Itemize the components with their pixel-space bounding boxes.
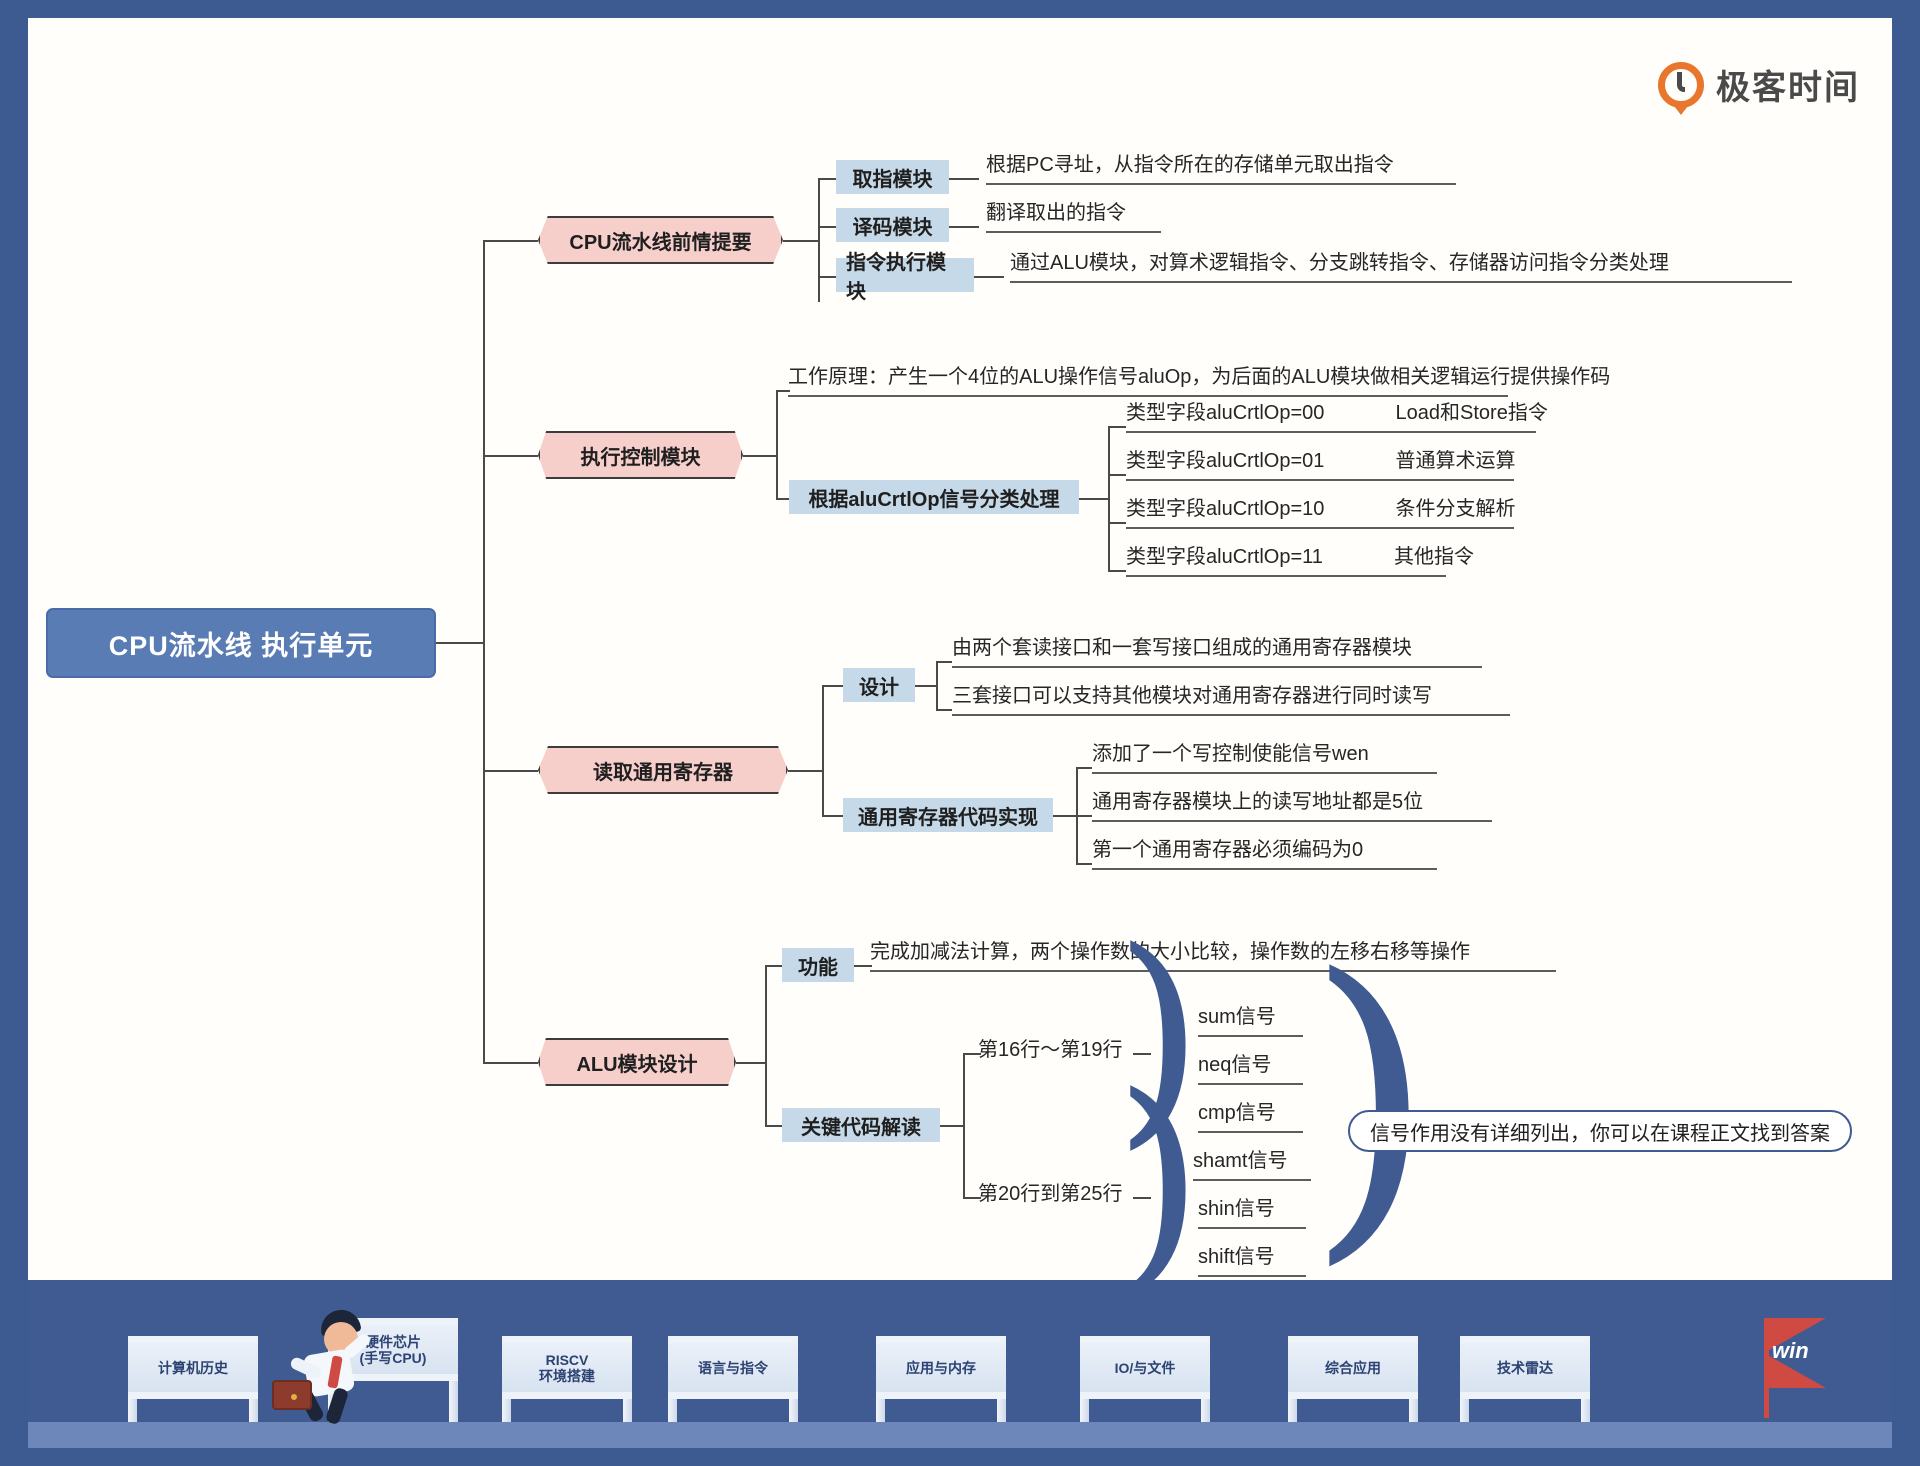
b4-code-groups-spine bbox=[963, 1053, 965, 1197]
b1-c2-desc-link bbox=[949, 226, 979, 228]
b1-c1-link bbox=[818, 178, 838, 180]
table-row: 类型字段aluCrtlOp=01 普通算术运算 bbox=[1126, 447, 1514, 481]
hurdle-label: RISCV 环境搭建 bbox=[502, 1343, 632, 1392]
branch-label: 读取通用寄存器 bbox=[593, 756, 733, 785]
b2-rows-link bbox=[1079, 498, 1109, 500]
leaf-signal: neq信号 bbox=[1198, 1051, 1303, 1085]
sub-label: 设计 bbox=[859, 671, 899, 700]
finish-label: win bbox=[1772, 1338, 1809, 1364]
mindmap-canvas: 极客时间 CPU流水线 执行单元 CPU流水线前情提要 取指模块 根据PC寻址，… bbox=[28, 18, 1892, 1448]
branch-label: 执行控制模块 bbox=[581, 441, 701, 470]
branch-execute-control-module[interactable]: 执行控制模块 bbox=[538, 431, 743, 479]
brand-name: 极客时间 bbox=[1716, 60, 1860, 109]
sub-fetch-module[interactable]: 取指模块 bbox=[836, 160, 949, 194]
sub-key-code-reading[interactable]: 关键代码解读 bbox=[782, 1108, 940, 1142]
b2-rows-spine bbox=[1108, 426, 1110, 570]
b3-g1-items-link bbox=[915, 685, 937, 687]
row-key: 类型字段aluCrtlOp=11 bbox=[1126, 546, 1323, 568]
running-businessman-icon bbox=[268, 1304, 388, 1424]
row-key: 类型字段aluCrtlOp=01 bbox=[1126, 450, 1324, 472]
root-node-label: CPU流水线 执行单元 bbox=[109, 624, 374, 663]
list-item[interactable]: 计算机历史 bbox=[128, 1336, 258, 1422]
b3-g2-i2-link bbox=[1076, 815, 1092, 817]
sub-label: 取指模块 bbox=[853, 163, 933, 192]
hurdle-label: IO/与文件 bbox=[1080, 1343, 1210, 1392]
b2-spine bbox=[776, 390, 778, 498]
list-item[interactable]: IO/与文件 bbox=[1080, 1336, 1210, 1422]
sub-function[interactable]: 功能 bbox=[782, 948, 854, 982]
sub-alucrtlop-dispatch[interactable]: 根据aluCrtlOp信号分类处理 bbox=[789, 480, 1079, 514]
branch-alu-module-design[interactable]: ALU模块设计 bbox=[538, 1038, 736, 1086]
b1-spine bbox=[818, 178, 820, 302]
leaf-design-item: 由两个套读接口和一套写接口组成的通用寄存器模块 bbox=[952, 634, 1482, 668]
list-item[interactable]: 应用与内存 bbox=[876, 1336, 1006, 1422]
leaf-code-range: 第20行到第25行 bbox=[978, 1180, 1123, 1212]
b4-feature-link bbox=[765, 965, 783, 967]
sub-register-code-impl[interactable]: 通用寄存器代码实现 bbox=[843, 798, 1053, 832]
b4-code-link bbox=[765, 1125, 783, 1127]
b3-g1-i1-link bbox=[936, 661, 952, 663]
sub-label: 通用寄存器代码实现 bbox=[858, 801, 1038, 830]
sub-decode-module[interactable]: 译码模块 bbox=[836, 208, 949, 242]
branch-label: ALU模块设计 bbox=[576, 1048, 697, 1077]
b1-out bbox=[783, 240, 819, 242]
leaf-signal: cmp信号 bbox=[1198, 1099, 1303, 1133]
finish-flag-icon: win bbox=[1764, 1318, 1874, 1388]
row-value: 条件分支解析 bbox=[1396, 498, 1516, 520]
row-key: 类型字段aluCrtlOp=00 bbox=[1126, 402, 1324, 424]
brand-logo: 极客时间 bbox=[1658, 60, 1860, 109]
sub-label: 指令执行模块 bbox=[846, 246, 964, 304]
leaf-code-range: 第16行～第19行 bbox=[978, 1036, 1123, 1068]
branch4-stem bbox=[483, 1062, 538, 1064]
b2-r2-link bbox=[1108, 474, 1126, 476]
leaf-signal: shin信号 bbox=[1198, 1195, 1306, 1229]
hurdle-label: 应用与内存 bbox=[876, 1343, 1006, 1392]
b3-out bbox=[788, 770, 823, 772]
branch-label: CPU流水线前情提要 bbox=[569, 226, 751, 255]
row-value: Load和Store指令 bbox=[1396, 402, 1548, 424]
b2-group-link bbox=[776, 498, 790, 500]
progress-track-footer: 计算机历史 硬件芯片 (手写CPU) RISCV 环境搭建 语言与指令 应用与内… bbox=[28, 1280, 1892, 1448]
b4-out bbox=[736, 1062, 766, 1064]
row-key: 类型字段aluCrtlOp=10 bbox=[1126, 498, 1324, 520]
leaf-signal: sum信号 bbox=[1198, 1003, 1303, 1037]
leaf-working-principle: 工作原理：产生一个4位的ALU操作信号aluOp，为后面的ALU模块做相关逻辑运… bbox=[788, 363, 1508, 397]
branch-cpu-pipeline-recap[interactable]: CPU流水线前情提要 bbox=[538, 216, 783, 264]
b2-r1-link bbox=[1108, 426, 1126, 428]
root-node[interactable]: CPU流水线 执行单元 bbox=[46, 608, 436, 678]
row-value: 普通算术运算 bbox=[1396, 450, 1516, 472]
leaf-register-item: 第一个通用寄存器必须编码为0 bbox=[1092, 836, 1437, 870]
row-value: 其他指令 bbox=[1394, 546, 1474, 568]
b2-out bbox=[743, 455, 777, 457]
list-item[interactable]: 技术雷达 bbox=[1460, 1336, 1590, 1422]
b3-g2-i3-link bbox=[1076, 863, 1092, 865]
table-row: 类型字段aluCrtlOp=00 Load和Store指令 bbox=[1126, 399, 1536, 433]
leaf-fetch-desc: 根据PC寻址，从指令所在的存储单元取出指令 bbox=[986, 151, 1456, 185]
list-item[interactable]: RISCV 环境搭建 bbox=[502, 1336, 632, 1422]
sub-design[interactable]: 设计 bbox=[843, 668, 915, 702]
table-row: 类型字段aluCrtlOp=11 其他指令 bbox=[1126, 543, 1446, 577]
b3-g1-link bbox=[822, 685, 844, 687]
leaf-execute-desc: 通过ALU模块，对算术逻辑指令、分支跳转指令、存储器访问指令分类处理 bbox=[1010, 249, 1792, 283]
hurdle-label: 技术雷达 bbox=[1460, 1343, 1590, 1392]
leaf-design-item: 三套接口可以支持其他模块对通用寄存器进行同时读写 bbox=[952, 682, 1510, 716]
list-item[interactable]: 语言与指令 bbox=[668, 1336, 798, 1422]
brace-signals-group: ) bbox=[1306, 953, 1435, 1250]
leaf-signal: shamt信号 bbox=[1193, 1147, 1311, 1181]
branch1-stem bbox=[483, 240, 538, 242]
root-stem bbox=[436, 642, 484, 644]
b3-g2-i1-link bbox=[1076, 767, 1092, 769]
leaf-signal: shift信号 bbox=[1198, 1243, 1306, 1277]
b2-r3-link bbox=[1108, 522, 1126, 524]
branch3-stem bbox=[483, 770, 538, 772]
brace-left-group2: ) bbox=[1114, 1078, 1204, 1285]
b1-c3-link bbox=[818, 276, 838, 278]
table-row: 类型字段aluCrtlOp=10 条件分支解析 bbox=[1126, 495, 1514, 529]
branch-read-general-registers[interactable]: 读取通用寄存器 bbox=[538, 746, 788, 794]
b2-r4-link bbox=[1108, 570, 1126, 572]
leaf-decode-desc: 翻译取出的指令 bbox=[986, 199, 1161, 233]
sub-label: 功能 bbox=[798, 951, 838, 980]
callout-text: 信号作用没有详细列出，你可以在课程正文找到答案 bbox=[1370, 1117, 1830, 1146]
hurdle-label: 计算机历史 bbox=[128, 1343, 258, 1392]
b1-c2-link bbox=[818, 226, 838, 228]
b4-spine bbox=[765, 965, 767, 1125]
sub-execute-module[interactable]: 指令执行模块 bbox=[836, 258, 974, 292]
branch2-stem bbox=[483, 455, 538, 457]
trunk-line bbox=[483, 240, 485, 1062]
b3-g1-items-spine bbox=[936, 661, 938, 709]
sub-label: 关键代码解读 bbox=[801, 1111, 921, 1140]
b3-g1-i2-link bbox=[936, 709, 952, 711]
b3-g2-link bbox=[822, 815, 844, 817]
b4-code-groups-link bbox=[940, 1125, 964, 1127]
hurdle-label: 综合应用 bbox=[1288, 1343, 1418, 1392]
b3-spine bbox=[822, 685, 824, 815]
leaf-function-desc: 完成加减法计算，两个操作数的大小比较，操作数的左移右移等操作 bbox=[870, 938, 1556, 972]
sub-label: 根据aluCrtlOp信号分类处理 bbox=[808, 483, 1059, 512]
callout-note: 信号作用没有详细列出，你可以在课程正文找到答案 bbox=[1348, 1110, 1852, 1152]
b3-g2-items-link bbox=[1053, 815, 1077, 817]
hurdle-label: 语言与指令 bbox=[668, 1343, 798, 1392]
geektime-logo-icon bbox=[1658, 62, 1704, 108]
leaf-register-item: 添加了一个写控制使能信号wen bbox=[1092, 740, 1437, 774]
track-ground bbox=[28, 1422, 1892, 1448]
list-item[interactable]: 综合应用 bbox=[1288, 1336, 1418, 1422]
b1-c1-desc-link bbox=[949, 178, 979, 180]
leaf-register-item: 通用寄存器模块上的读写地址都是5位 bbox=[1092, 788, 1492, 822]
b1-c3-desc-link bbox=[974, 276, 1004, 278]
sub-label: 译码模块 bbox=[853, 211, 933, 240]
